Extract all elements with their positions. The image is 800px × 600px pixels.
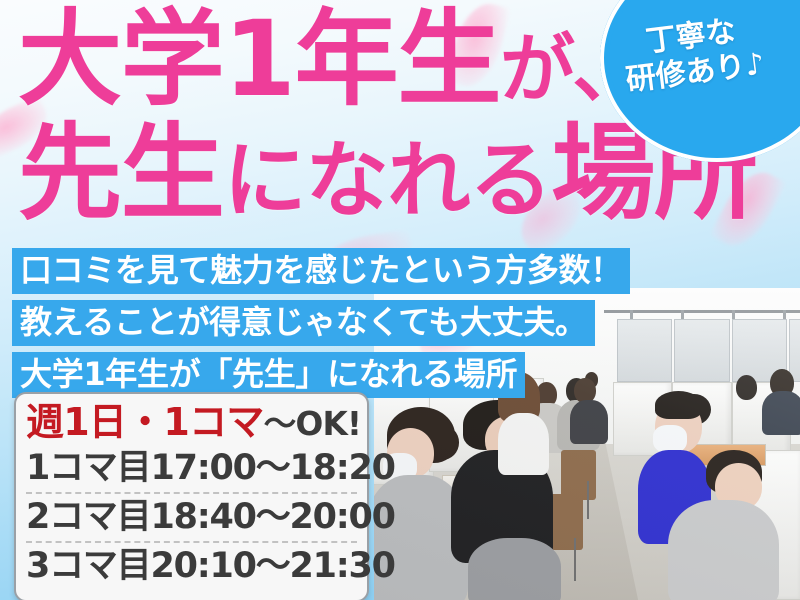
schedule-row: 3コマ目20:10〜21:30 [26, 543, 357, 590]
photo-student-body [570, 400, 608, 444]
schedule-rows: 1コマ目17:00〜18:20 2コマ目18:40〜20:00 3コマ目20:1… [26, 445, 357, 590]
photo-student-body [668, 500, 779, 600]
photo-student-body [762, 391, 800, 435]
schedule-heading: 週1日・1コマ〜OK! [26, 402, 357, 443]
photo-face-mask [653, 425, 687, 453]
schedule-heading-dark: 〜OK! [264, 405, 362, 443]
highlight-bar-2: 教えることが得意じゃなくても大丈夫。 [12, 300, 595, 346]
photo-student-hair [655, 391, 702, 419]
schedule-row: 1コマ目17:00〜18:20 [26, 445, 357, 494]
photo-upper-panel [674, 319, 729, 381]
headline-line1-main: 大学1年生 [18, 0, 500, 120]
schedule-card: 週1日・1コマ〜OK! 1コマ目17:00〜18:20 2コマ目18:40〜20… [14, 392, 369, 600]
recruitment-banner: 丁寧な 研修あり♪ 大学1年生が、 先生になれる場所 口コミを見て魅力を感じたと… [0, 0, 800, 600]
photo-upper-panel [789, 319, 800, 381]
headline-line-2: 先生になれる場所 [18, 124, 718, 224]
photo-bag [468, 538, 562, 600]
photo-chair [561, 450, 595, 500]
photo-student-body [498, 413, 549, 475]
highlight-bars: 口コミを見て魅力を感じたという方多数！ 教えることが得意じゃなくても大丈夫。 大… [12, 248, 630, 404]
photo-ceiling-rail [604, 310, 800, 313]
photo-chair-leg [574, 538, 576, 582]
schedule-heading-red: 週1日・1コマ [26, 400, 264, 444]
schedule-row: 2コマ目18:40〜20:00 [26, 494, 357, 543]
headline-line2-mid: になれる [224, 132, 552, 229]
photo-chair-leg [587, 481, 589, 518]
photo-student-head [736, 375, 757, 400]
highlight-bar-1: 口コミを見て魅力を感じたという方多数！ [12, 248, 630, 294]
headline-line2-main: 先生 [18, 112, 224, 234]
